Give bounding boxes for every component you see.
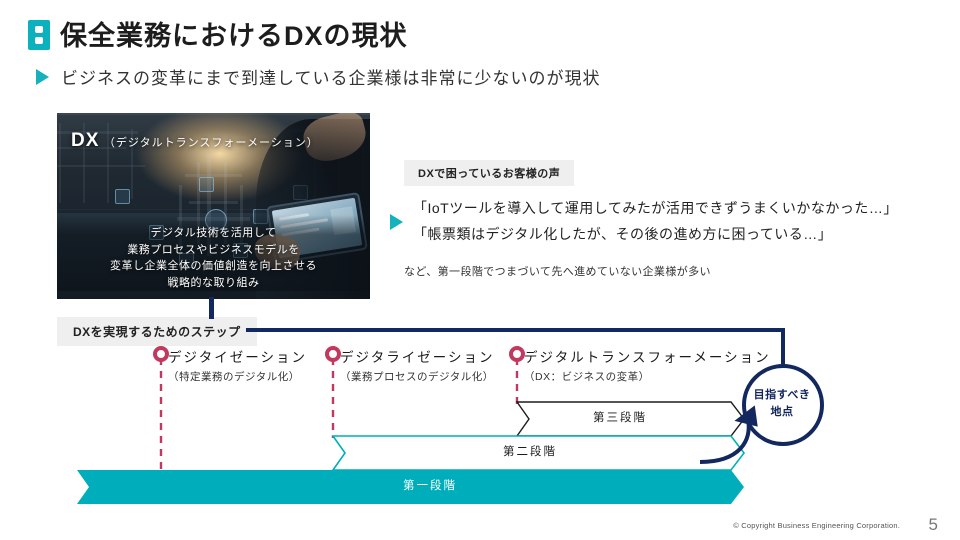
customer-voice-note: など、第一段階でつまづいて先へ進めていない企業様が多い — [404, 263, 711, 279]
step-sub-1: （特定業務のデジタル化） — [168, 369, 307, 384]
photo-caption-line-4: 戦略的な取り組み — [57, 275, 370, 292]
customer-voice-block: 「IoTツールを導入して運用してみたが活用できずうまくいかなかった…」 「帳票類… — [390, 196, 898, 248]
triangle-bullet-icon — [36, 69, 49, 85]
triangle-bullet-icon — [390, 214, 403, 230]
b-logo-icon — [28, 20, 50, 50]
dx-photo-card: DX （デジタルトランスフォーメーション） デジタル技術を活用して 業務プロセス… — [57, 113, 370, 299]
photo-connector-line — [209, 297, 214, 319]
subtitle-row: ビジネスの変革にまで到達している企業様は非常に少ないのが現状 — [36, 64, 601, 89]
photo-caption-line-3: 変革し企業全体の価値創造を向上させる — [57, 258, 370, 275]
step-marker-icon-1 — [155, 348, 167, 360]
photo-caption-line-2: 業務プロセスやビジネスモデルを — [57, 242, 370, 259]
customer-voice-tag: DXで困っているお客様の声 — [404, 160, 574, 186]
subtitle-text: ビジネスの変革にまで到達している企業様は非常に少ないのが現状 — [61, 64, 601, 89]
b-logo-glyph — [35, 26, 43, 44]
stage-1-label: 第一段階 — [330, 477, 530, 493]
steps-tag: DXを実現するためのステップ — [57, 317, 257, 346]
step-marker-icon-3 — [511, 348, 523, 360]
step-name-2: デジタライゼーション — [340, 346, 494, 366]
step-label-3: デジタルトランスフォーメーション （DX：ビジネスの変革） — [524, 346, 771, 384]
b-logo-glyph-top — [35, 26, 43, 33]
stage-3-label: 第三段階 — [520, 409, 720, 425]
step-sub-3: （DX：ビジネスの変革） — [524, 369, 771, 384]
page-title: 保全業務におけるDXの現状 — [60, 14, 408, 53]
goal-label-line-2: 地点 — [738, 404, 826, 421]
slide: 保全業務におけるDXの現状 ビジネスの変革にまで到達している企業様は非常に少ない… — [0, 0, 960, 540]
step-label-1: デジタイゼーション （特定業務のデジタル化） — [168, 346, 307, 384]
goal-label-line-1: 目指すべき — [738, 387, 826, 404]
stage-2-label: 第二段階 — [430, 443, 630, 459]
page-number: 5 — [929, 515, 938, 535]
step-name-3: デジタルトランスフォーメーション — [524, 346, 771, 366]
step-marker-icon-2 — [327, 348, 339, 360]
copyright-text: © Copyright Business Engineering Corpora… — [733, 521, 900, 530]
goal-label: 目指すべき 地点 — [738, 387, 826, 420]
customer-voice-quotes: 「IoTツールを導入して運用してみたが活用できずうまくいかなかった…」 「帳票類… — [413, 196, 898, 248]
step-name-1: デジタイゼーション — [168, 346, 307, 366]
customer-voice-quote-2: 「帳票類はデジタル化したが、その後の進め方に困っている…」 — [413, 222, 898, 248]
photo-title-overlay: DX （デジタルトランスフォーメーション） — [71, 130, 319, 152]
photo-caption-overlay: デジタル技術を活用して 業務プロセスやビジネスモデルを 変革し企業全体の価値創造… — [57, 215, 370, 291]
photo-caption-line-1: デジタル技術を活用して — [57, 225, 370, 242]
step-sub-2: （業務プロセスのデジタル化） — [340, 369, 494, 384]
b-logo-glyph-bottom — [35, 37, 43, 44]
photo-title-main: DX — [71, 130, 99, 151]
step-label-2: デジタライゼーション （業務プロセスのデジタル化） — [340, 346, 494, 384]
customer-voice-quote-1: 「IoTツールを導入して運用してみたが活用できずうまくいかなかった…」 — [413, 196, 898, 222]
goal-arrow-curve — [700, 420, 749, 462]
photo-title-sub: （デジタルトランスフォーメーション） — [104, 137, 319, 149]
